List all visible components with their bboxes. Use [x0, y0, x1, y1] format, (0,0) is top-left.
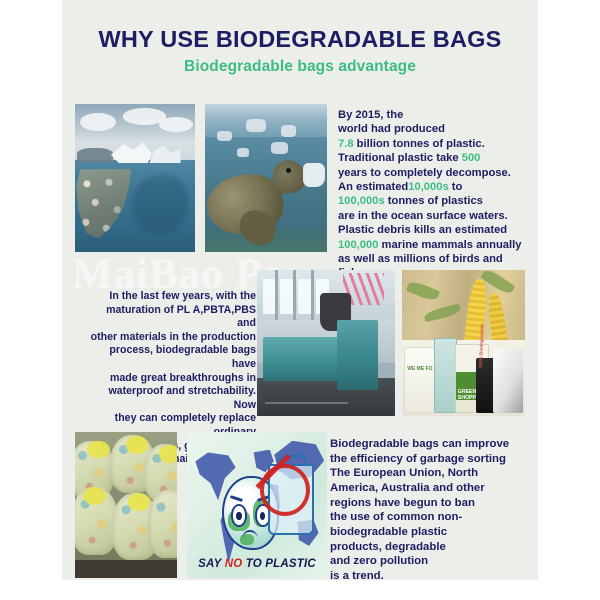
text-line: products, degradable: [330, 541, 446, 553]
underwater-shadow: [133, 175, 188, 234]
text-line: An estimated: [338, 181, 408, 193]
bag-label-text: WE ME FO: [407, 367, 432, 373]
structural-beam: [293, 270, 296, 323]
text-line: and zero pollution: [330, 555, 428, 567]
sorted-garbage-bags-photo: [75, 432, 177, 578]
say-no-to-plastic-graphic: SAY NO TO PLASTIC: [187, 432, 327, 578]
frowning-mouth: [242, 530, 258, 539]
eyebrow: [230, 495, 243, 501]
cloud-shape: [159, 117, 193, 132]
garbage-bag: [148, 490, 177, 557]
plastic-debris: [246, 119, 266, 132]
text-line: the use of common non-: [330, 511, 462, 523]
plastic-bag-in-mouth: [303, 163, 325, 187]
plastic-debris: [217, 131, 232, 141]
floor-marking: [265, 402, 348, 404]
pupil: [236, 512, 241, 520]
text-line: is a trend.: [330, 570, 384, 580]
caption-no: NO: [225, 558, 243, 570]
text-line: process, biodegradable bags have: [109, 344, 256, 370]
bag-tie: [83, 487, 105, 505]
cloud-shape: [80, 113, 116, 131]
text-line: tonnes of plastics: [385, 195, 483, 207]
text-line: billion tonnes of plastic.: [354, 138, 485, 150]
plastic-debris: [271, 142, 288, 154]
ocean-plastic-text: By 2015, the world had produced 7.8 bill…: [338, 108, 538, 281]
window-pane: [298, 279, 310, 314]
highlight-value: 100,000: [338, 239, 378, 251]
content-panel: MaiBao Pa WHY USE BIODEGRADABLE BAGS Bio…: [62, 0, 538, 580]
turtle-eye: [286, 168, 291, 173]
text-line: made great breakthroughs in: [110, 372, 256, 384]
text-line: biodegradable plastic: [330, 526, 447, 538]
bag-tie: [159, 445, 177, 463]
white-shopping-bag: WE ME FO: [404, 347, 436, 413]
text-line: America, Australia and other: [330, 482, 485, 494]
text-line: world had produced: [338, 123, 445, 135]
bag-tie: [126, 436, 148, 454]
text-line: to: [449, 181, 463, 193]
ship-hull-shape: [77, 148, 113, 163]
bag-tie: [128, 493, 150, 511]
grey-mailer-bag: [493, 349, 523, 413]
factory-production-line-photo: [257, 270, 395, 416]
teal-shopping-bag: [434, 338, 457, 413]
corn-and-bags-photo: WE ME FO GREEN SHOPPING 100% Biodegradab…: [402, 270, 525, 416]
highlight-value: 100,000s: [338, 195, 385, 207]
text-line: marine mammals annually: [378, 239, 521, 251]
infographic-page: MaiBao Pa WHY USE BIODEGRADABLE BAGS Bio…: [0, 0, 600, 600]
text-line: Plastic debris kills an estimated: [338, 224, 507, 236]
caption-to-plastic: TO PLASTIC: [246, 558, 316, 570]
structural-beam: [311, 270, 314, 323]
bag-tie: [87, 441, 109, 459]
highlight-value: 500: [462, 152, 481, 164]
plastic-debris: [281, 125, 297, 137]
page-title: WHY USE BIODEGRADABLE BAGS: [62, 26, 538, 53]
caption-say: SAY: [198, 558, 221, 570]
text-line: regions have begun to ban: [330, 497, 475, 509]
text-line: waterproof and stretchability. Now: [108, 385, 256, 411]
text-line: By 2015, the: [338, 109, 403, 121]
conveyor-machine: [263, 337, 349, 381]
text-line: are in the ocean surface waters.: [338, 210, 508, 222]
text-line: other materials in the production: [91, 331, 256, 343]
plastic-iceberg-photo: [75, 104, 195, 252]
text-line: maturation of PL A,PBTA,PBS and: [106, 304, 256, 330]
policy-trend-text: Biodegradable bags can improve the effic…: [330, 437, 535, 580]
ground-area: [75, 560, 177, 578]
window-pane: [263, 279, 275, 314]
plastic-debris: [237, 148, 249, 157]
sea-turtle-plastic-photo: [205, 104, 327, 252]
pupil: [260, 512, 265, 520]
highlight-value: 10,000s: [408, 181, 448, 193]
structural-beam: [275, 270, 278, 323]
window-pane: [280, 279, 292, 314]
text-line: Biodegradable bags can improve: [330, 438, 509, 450]
text-line: the efficiency of garbage sorting: [330, 453, 506, 465]
page-subtitle: Biodegradable bags advantage: [62, 58, 538, 76]
bag-label-text: 100% Biodegradable: [478, 323, 485, 368]
text-line: years to completely decompose.: [338, 167, 511, 179]
control-cabinet: [337, 320, 378, 390]
eye-left: [231, 504, 247, 526]
text-line: The European Union, North: [330, 467, 478, 479]
say-no-to-plastic-caption: SAY NO TO PLASTIC: [187, 558, 327, 570]
highlight-value: 7.8: [338, 138, 354, 150]
text-line: In the last few years, with the: [109, 290, 256, 302]
text-line: Traditional plastic take: [338, 152, 462, 164]
